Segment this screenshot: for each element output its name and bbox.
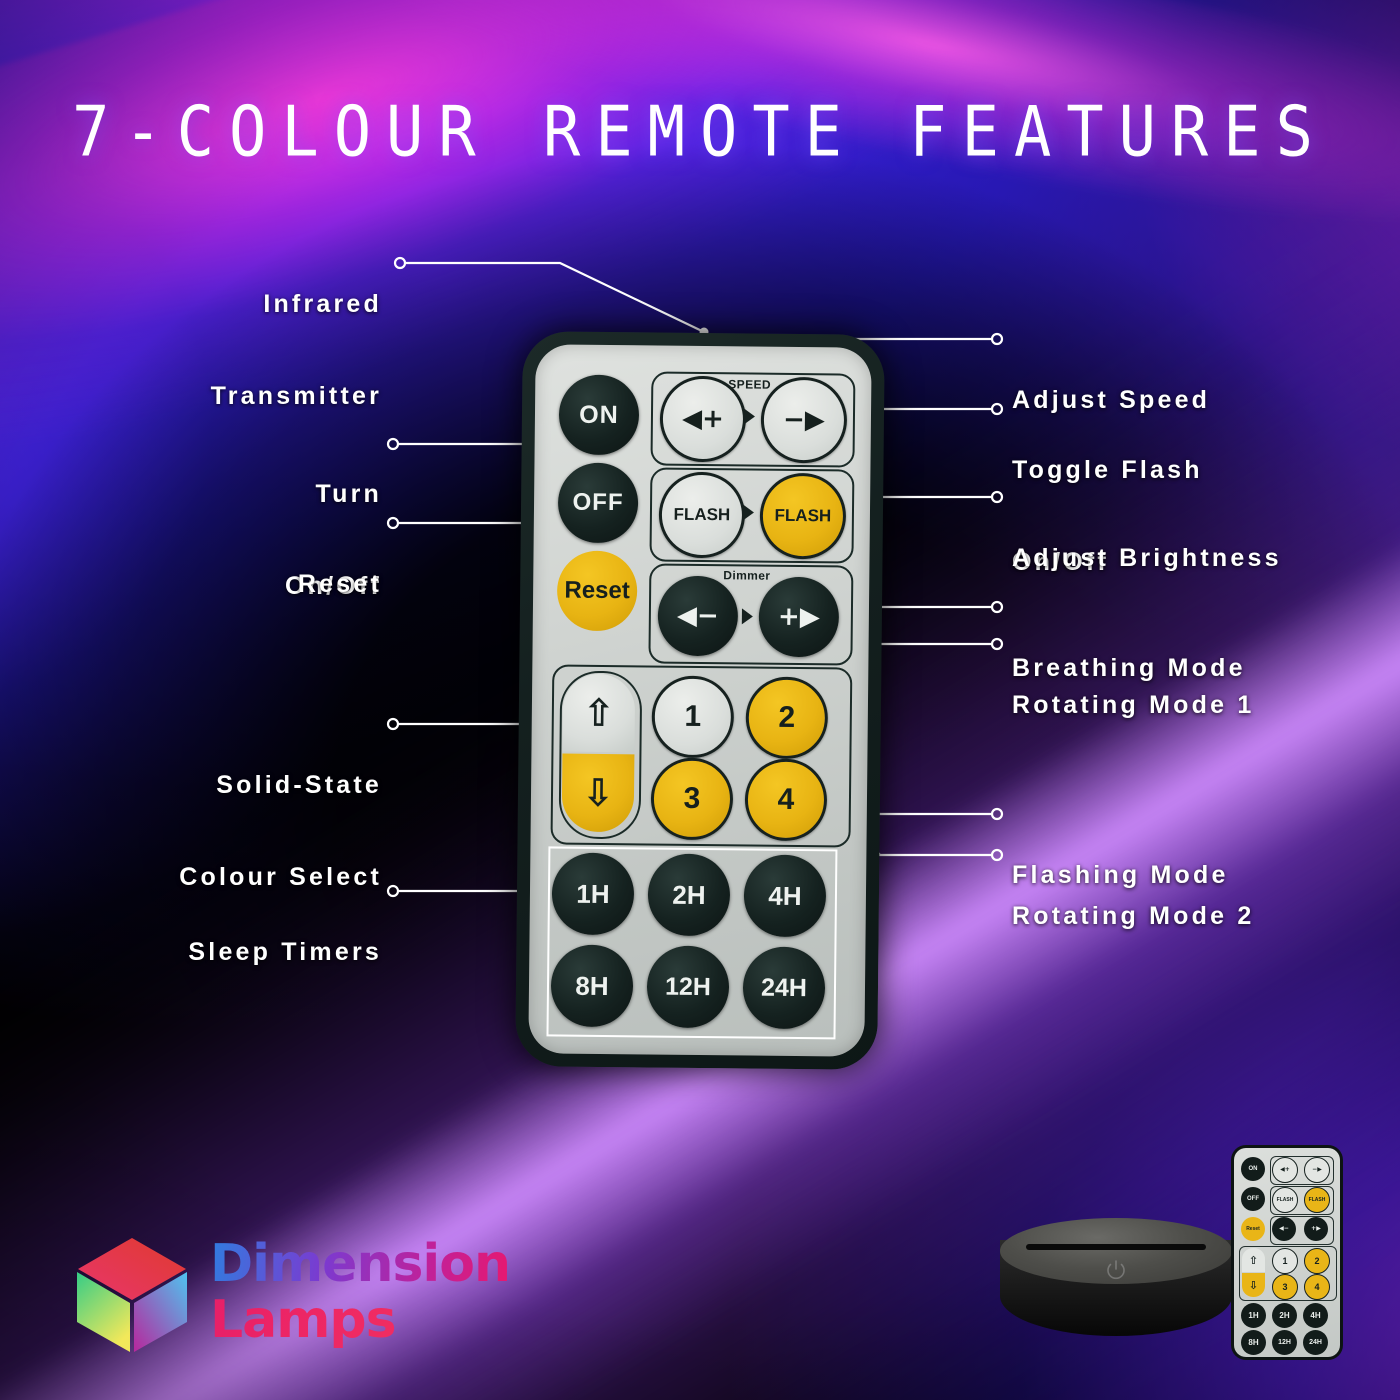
power-on-button[interactable]: ON <box>559 375 640 456</box>
mode-button-1[interactable]: 1 <box>651 675 734 758</box>
brand-wordmark: Dimension Lamps <box>210 1234 510 1350</box>
cube-logo-icon <box>72 1236 192 1354</box>
mini-mode-2[interactable]: 2 <box>1304 1248 1330 1274</box>
mini-remote-faceplate: ON ◀+ −▶ OFF FLASH FLASH Reset ◀− +▶ ⇧ ⇩… <box>1234 1148 1340 1357</box>
mini-mode-3[interactable]: 3 <box>1272 1274 1298 1300</box>
mini-mode-4[interactable]: 4 <box>1304 1274 1330 1300</box>
label-reset: Reset <box>298 508 382 661</box>
mini-timer-24h[interactable]: 24H <box>1303 1330 1328 1355</box>
mini-speed-decrease[interactable]: ◀+ <box>1272 1157 1298 1183</box>
label-line: Rotating Mode 1 <box>1012 690 1254 721</box>
remote-control: SPEED ◀+ −▶ ON OFF Reset FLASH FLASH Dim… <box>515 331 885 1070</box>
dimmer-separator-icon <box>742 608 753 624</box>
page-title: 7-COLOUR REMOTE FEATURES <box>0 91 1400 173</box>
speed-separator-icon <box>744 408 755 424</box>
label-line: Toggle Flash <box>1012 455 1203 486</box>
power-icon <box>1104 1258 1128 1282</box>
speed-increase-button[interactable]: −▶ <box>760 377 847 464</box>
colour-select-down-button[interactable]: ⇩ <box>562 754 635 833</box>
arrow-down-icon: ⇩ <box>582 774 614 812</box>
mini-speed-decrease-glyph: ◀+ <box>1280 1167 1290 1173</box>
label-line: Adjust Brightness <box>1012 543 1282 574</box>
colour-select-up-button[interactable]: ⇧ <box>562 674 635 753</box>
mini-power-off[interactable]: OFF <box>1241 1187 1265 1211</box>
label-line: Rotating Mode 2 <box>1012 901 1254 932</box>
speed-decrease-glyph: ◀+ <box>682 406 724 432</box>
label-line: Sleep Timers <box>188 937 382 968</box>
brand-logo: Dimension Lamps <box>72 1232 502 1360</box>
mini-power-on[interactable]: ON <box>1241 1157 1265 1181</box>
dimmer-down-glyph: ◀− <box>677 603 719 629</box>
mini-flash-on[interactable]: FLASH <box>1304 1187 1330 1213</box>
flash-on-button[interactable]: FLASH <box>759 473 846 560</box>
flash-off-button[interactable]: FLASH <box>658 472 745 559</box>
infographic-canvas: 7-COLOUR REMOTE FEATURES <box>0 0 1400 1400</box>
dimmer-up-glyph: +▶ <box>778 604 820 630</box>
mini-arrow-up-icon: ⇧ <box>1249 1255 1258 1266</box>
mini-timer-4h[interactable]: 4H <box>1303 1303 1328 1328</box>
dimmer-up-button[interactable]: +▶ <box>758 577 839 658</box>
mode-button-3[interactable]: 3 <box>651 757 734 840</box>
lamp-acrylic-slot <box>1026 1244 1206 1250</box>
mini-timer-12h[interactable]: 12H <box>1272 1330 1297 1355</box>
brand-name-line-1: Dimension <box>210 1234 510 1294</box>
power-off-button[interactable]: OFF <box>558 463 639 544</box>
mini-reset[interactable]: Reset <box>1241 1217 1265 1241</box>
mini-timer-1h[interactable]: 1H <box>1241 1303 1266 1328</box>
mini-colour-down[interactable]: ⇩ <box>1242 1273 1265 1297</box>
mini-timer-2h[interactable]: 2H <box>1272 1303 1297 1328</box>
speed-increase-glyph: −▶ <box>783 407 825 433</box>
mode-button-2[interactable]: 2 <box>745 676 828 759</box>
mini-arrow-down-icon: ⇩ <box>1249 1280 1258 1291</box>
mini-dimmer-down-glyph: ◀− <box>1279 1226 1289 1232</box>
mini-flash-off[interactable]: FLASH <box>1272 1187 1298 1213</box>
mini-speed-increase-glyph: −▶ <box>1312 1167 1322 1173</box>
reset-button[interactable]: Reset <box>557 551 638 632</box>
mini-dimmer-down[interactable]: ◀− <box>1272 1217 1296 1241</box>
label-line: Turn <box>285 479 382 510</box>
mini-colour-up[interactable]: ⇧ <box>1242 1248 1265 1272</box>
label-sleep-timers: Sleep Timers <box>188 876 382 1029</box>
mode-button-4[interactable]: 4 <box>745 758 828 841</box>
label-line: Transmitter <box>211 381 382 412</box>
remote-faceplate: SPEED ◀+ −▶ ON OFF Reset FLASH FLASH Dim… <box>528 344 871 1056</box>
label-line: Infrared <box>211 289 382 320</box>
label-rotating-mode-2: Rotating Mode 2 <box>1012 840 1254 993</box>
mini-dimmer-up[interactable]: +▶ <box>1304 1217 1328 1241</box>
mini-speed-increase[interactable]: −▶ <box>1304 1157 1330 1183</box>
sleep-timers-highlight-box <box>546 846 837 1039</box>
arrow-up-icon: ⇧ <box>583 694 615 732</box>
speed-decrease-button[interactable]: ◀+ <box>659 376 746 463</box>
flash-separator-icon <box>743 504 754 520</box>
mini-remote: ON ◀+ −▶ OFF FLASH FLASH Reset ◀− +▶ ⇧ ⇩… <box>1231 1145 1343 1360</box>
lamp-base <box>1000 1218 1232 1346</box>
label-line: Solid-State <box>179 770 382 801</box>
dimmer-down-button[interactable]: ◀− <box>657 576 738 657</box>
label-rotating-mode-1: Rotating Mode 1 <box>1012 629 1254 782</box>
dimmer-section-label: Dimmer <box>723 568 770 582</box>
label-line: Reset <box>298 569 382 600</box>
mini-mode-1[interactable]: 1 <box>1272 1248 1298 1274</box>
mini-dimmer-up-glyph: +▶ <box>1311 1226 1321 1232</box>
mini-timer-8h[interactable]: 8H <box>1241 1330 1266 1355</box>
brand-name-line-2: Lamps <box>210 1290 510 1350</box>
